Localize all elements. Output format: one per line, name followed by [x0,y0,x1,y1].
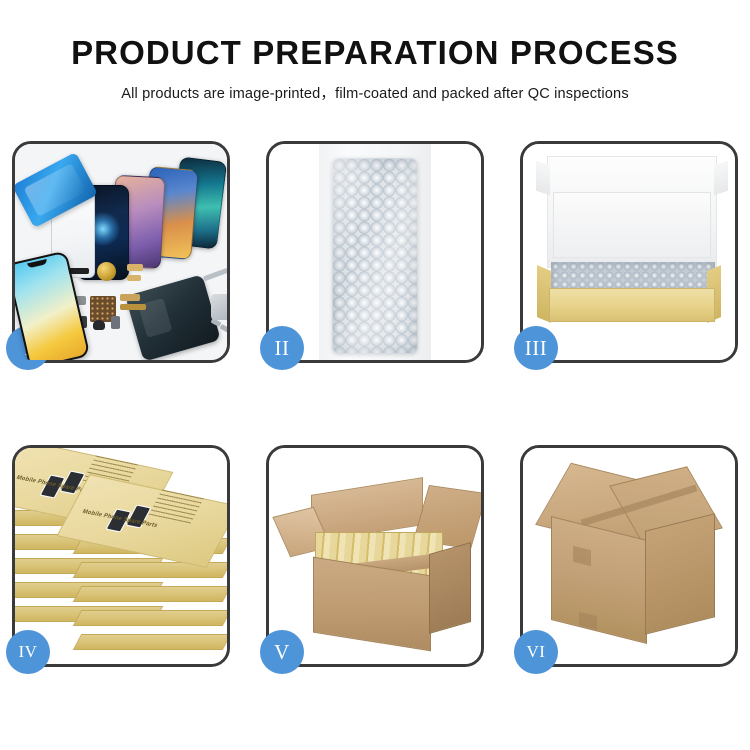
process-step-card-2[interactable]: II [266,141,484,363]
flex-cable-icon-2 [120,304,146,310]
copper-coil-icon [97,262,116,281]
speaker-icon [93,320,105,330]
stack-box-side-10 [73,634,227,650]
phone-back-housing-icon [125,274,221,360]
process-step-card-4[interactable]: Mobile Phone Spare Parts Mobile Phone Sp… [12,445,230,667]
screw-icon-2 [219,324,227,333]
sealed-carton-right [645,513,715,634]
tool-icon [211,294,227,320]
component-icon-3 [127,275,141,281]
step-image-sealed-carton [523,448,735,664]
step-image-boxed-stack: Mobile Phone Spare Parts Mobile Phone Sp… [15,448,227,664]
flex-cable-icon-1 [120,294,140,301]
bubble-wrap-sheen [332,158,418,354]
component-icon-2 [127,264,143,271]
carton-body-right [429,542,471,634]
step-image-inner-box-packing [523,144,735,360]
process-step-grid: I II III [12,141,746,667]
process-step-card-5[interactable]: V [266,445,484,667]
process-step-card-3[interactable]: III [520,141,738,363]
step-badge-4: IV [6,630,50,674]
step-image-parts-and-screens [15,144,227,360]
header: PRODUCT PREPARATION PROCESS All products… [0,0,750,103]
step-image-bubble-wrapping [269,144,481,360]
product-preparation-infographic: PRODUCT PREPARATION PROCESS All products… [0,0,750,750]
foam-sheet-icon [553,192,711,258]
component-icon-6 [111,316,120,329]
process-step-card-6[interactable]: VI [520,445,738,667]
stack-box-side-8 [73,586,227,602]
step-badge-5: V [260,630,304,674]
page-subtitle: All products are image-printed，film-coat… [0,82,750,103]
step-badge-6: VI [514,630,558,674]
process-step-card-1[interactable]: I [12,141,230,363]
step-badge-3: III [514,326,558,370]
inner-box-front [549,288,715,322]
step-badge-2: II [260,326,304,370]
tweezers-icon [203,268,227,282]
page-title: PRODUCT PREPARATION PROCESS [0,36,750,71]
stack-box-side-9 [73,610,227,626]
step-image-carton-filling [269,448,481,664]
